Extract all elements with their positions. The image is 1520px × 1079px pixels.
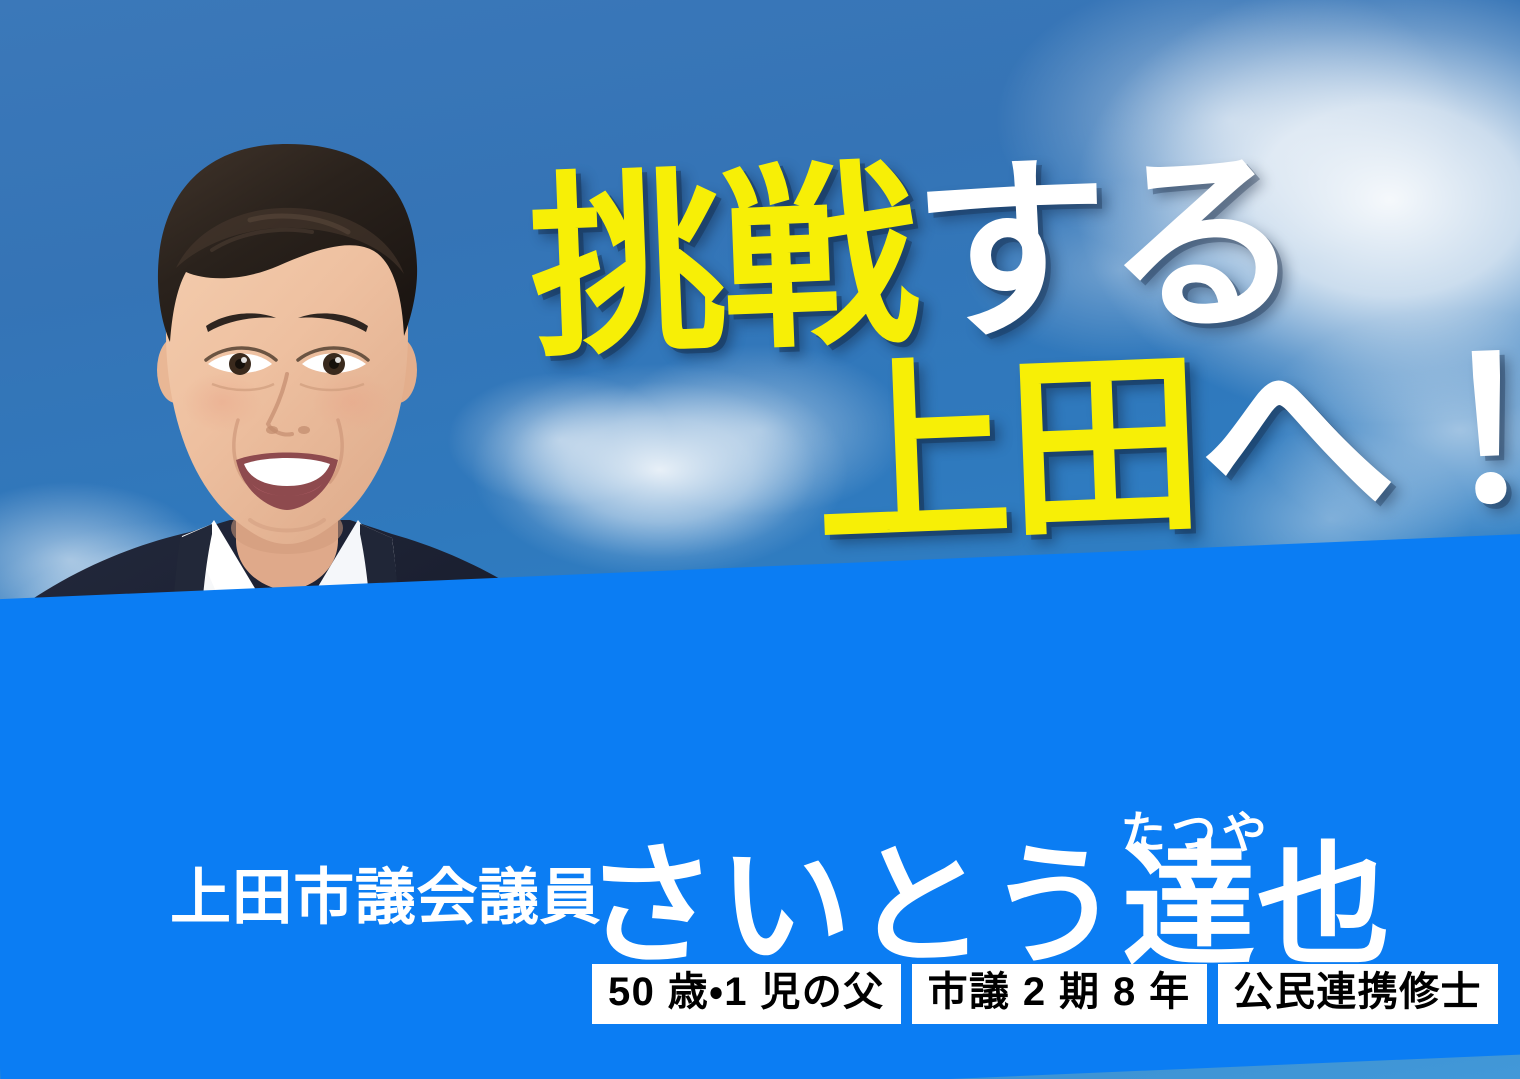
badge-degree: 公民連携修士 [1218,964,1498,1024]
credential-badges: 50 歳・1 児の父 市議 2 期 8 年 公民連携修士 [592,964,1498,1024]
banner-content: 上田市議会議員 たつや さいとう達也 50 歳・1 児の父 市議 2 期 8 年… [0,600,1520,1079]
office-title: 上田市議会議員 [170,847,601,936]
badge-terms-served: 市議 2 期 8 年 [912,964,1207,1024]
bottom-banner: 上田市議会議員 たつや さいとう達也 50 歳・1 児の父 市議 2 期 8 年… [0,533,1520,1079]
campaign-poster: 挑戦する 上田へ！ 選択と集中で、上田を再興する 上田市議会議員 たつや さいと… [0,0,1520,1079]
candidate-name-block: たつや さいとう達也 [584,796,1424,946]
candidate-name: さいとう達也 [584,838,1392,978]
badge-age-family: 50 歳・1 児の父 [592,964,901,1024]
